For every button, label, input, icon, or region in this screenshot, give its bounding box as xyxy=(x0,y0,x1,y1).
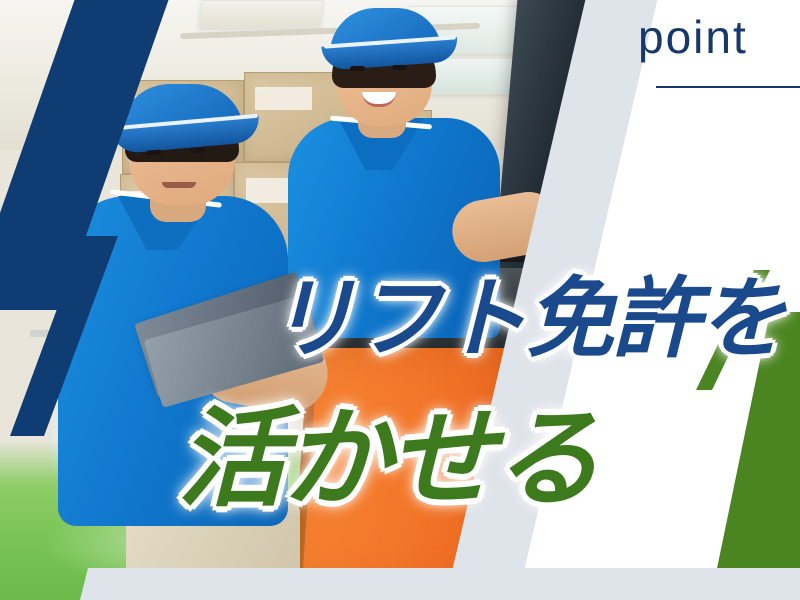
male-worker-mouth xyxy=(162,182,196,188)
ceiling-light xyxy=(199,0,324,28)
bottom-gray-band xyxy=(0,568,800,600)
point-underline-rule xyxy=(656,86,800,88)
point-label-group: point xyxy=(638,14,800,88)
recruitment-banner: point リフト免許を 活かせる xyxy=(0,0,800,600)
female-worker-eye xyxy=(392,65,407,70)
female-worker-eye xyxy=(350,66,365,71)
point-label: point xyxy=(638,14,800,60)
